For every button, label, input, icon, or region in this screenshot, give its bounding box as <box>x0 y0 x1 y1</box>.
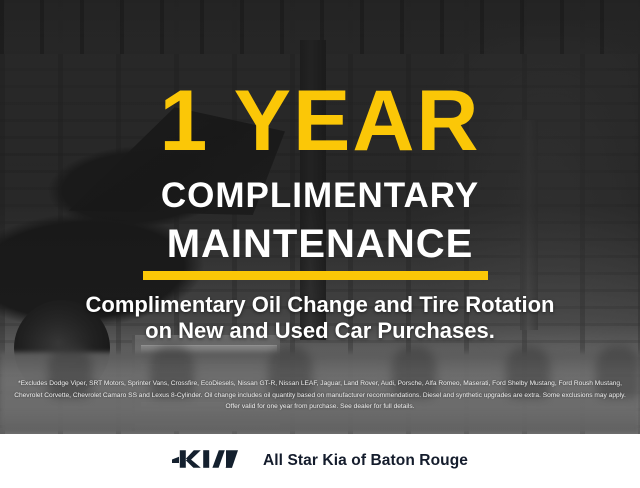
headline-complimentary: COMPLIMENTARY <box>0 178 640 213</box>
offer-text: Complimentary Oil Change and Tire Rotati… <box>0 292 640 344</box>
headline-year: 1 YEAR <box>0 78 640 164</box>
disclaimer-text: *Excludes Dodge Viper, SRT Motors, Sprin… <box>14 378 626 413</box>
kia-logo-icon <box>172 448 242 475</box>
copy-block: 1 YEAR COMPLIMENTARY MAINTENANCE Complim… <box>0 0 640 434</box>
yellow-divider-bar <box>143 271 488 280</box>
offer-line-2: on New and Used Car Purchases. <box>0 318 640 344</box>
dealer-name: All Star Kia of Baton Rouge <box>263 452 468 470</box>
headline-maintenance: MAINTENANCE <box>0 224 640 264</box>
promo-banner: 1 YEAR COMPLIMENTARY MAINTENANCE Complim… <box>0 0 640 488</box>
footer-bar: All Star Kia of Baton Rouge <box>0 434 640 488</box>
offer-line-1: Complimentary Oil Change and Tire Rotati… <box>86 292 555 317</box>
hero-section: 1 YEAR COMPLIMENTARY MAINTENANCE Complim… <box>0 0 640 434</box>
